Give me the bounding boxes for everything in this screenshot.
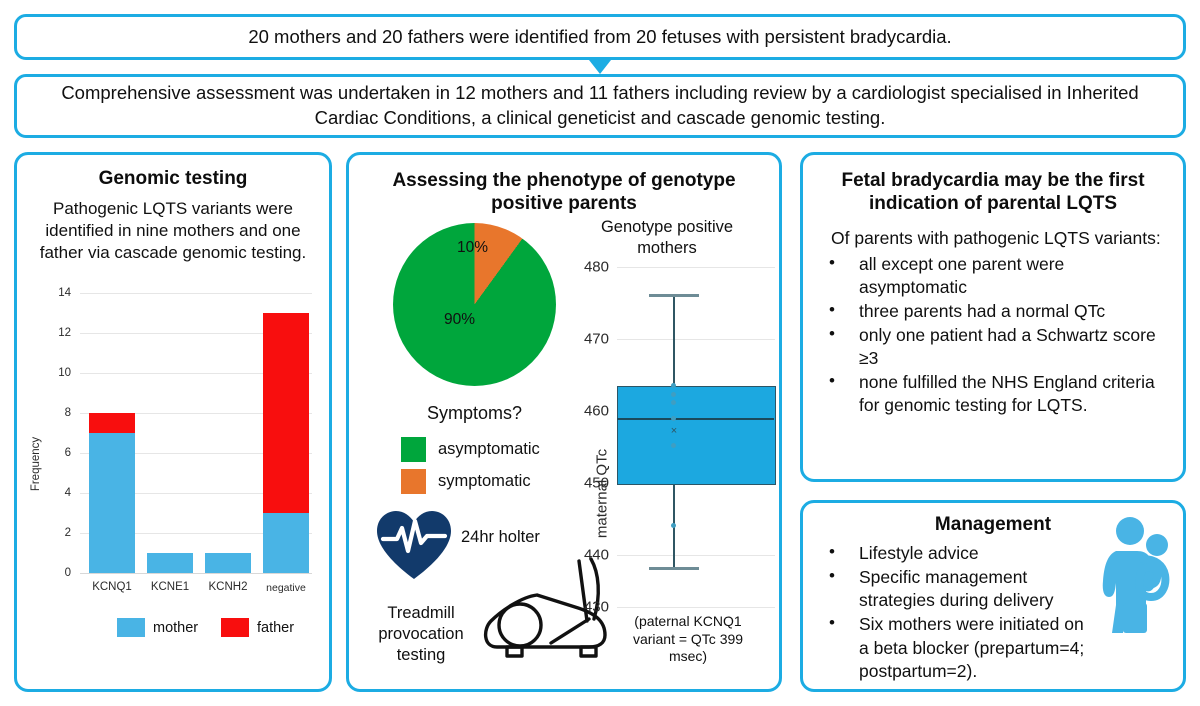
gridline xyxy=(617,339,775,340)
pie-label-asymptomatic: 90% xyxy=(444,311,475,329)
box-plot-y-tick: 480 xyxy=(565,259,609,276)
bar-chart-x-tick: KCNH2 xyxy=(195,581,261,593)
flow-arrow-icon xyxy=(589,60,611,74)
symptoms-question-label: Symptoms? xyxy=(393,403,556,424)
box-plot-y-tick: 460 xyxy=(565,403,609,420)
legend-swatch-symptomatic xyxy=(401,469,426,494)
pie-legend: asymptomatic symptomatic xyxy=(401,437,540,501)
genomic-variant-bar-chart: Frequency 14 12 10 8 6 4 2 0 xyxy=(17,283,329,691)
box-plot-data-point xyxy=(671,392,676,397)
gridline xyxy=(617,607,775,608)
gridline xyxy=(617,555,775,556)
box-plot-median-line xyxy=(617,418,774,420)
bar-chart-x-tick: KCNE1 xyxy=(137,581,203,593)
box-plot-data-point xyxy=(671,383,676,388)
genomic-panel-title: Genomic testing xyxy=(17,167,329,190)
box-plot-whisker-cap-upper xyxy=(649,294,699,297)
legend-swatch-father xyxy=(221,618,249,637)
box-plot-data-point xyxy=(671,416,676,421)
bar-negative-mother xyxy=(263,513,309,573)
panel-phenotype: Assessing the phenotype of genotype posi… xyxy=(346,152,782,692)
list-item: only one patient had a Schwartz score ≥3 xyxy=(819,324,1165,370)
bar-chart-y-tick: 10 xyxy=(37,367,71,379)
bar-chart-legend-father: father xyxy=(221,618,294,637)
banner-cohort-text: 20 mothers and 20 fathers were identifie… xyxy=(248,25,951,50)
bar-chart-x-tick: negative xyxy=(253,582,319,594)
bar-chart-y-tick: 4 xyxy=(37,487,71,499)
box-plot-note: (paternal KCNQ1 variant = QTc 399 msec) xyxy=(613,613,763,666)
bradycardia-panel-intro: Of parents with pathogenic LQTS variants… xyxy=(831,227,1163,250)
list-item: none fulfilled the NHS England criteria … xyxy=(819,371,1165,417)
list-item: Specific management strategies during de… xyxy=(819,566,1087,612)
holter-label: 24hr holter xyxy=(461,527,540,548)
bar-chart-y-tick: 2 xyxy=(37,527,71,539)
box-plot-mean-marker: × xyxy=(671,425,677,437)
heart-ecg-icon xyxy=(375,509,453,581)
list-item: Lifestyle advice xyxy=(819,542,1087,565)
genomic-panel-subtitle: Pathogenic LQTS variants were identified… xyxy=(33,198,313,264)
banner-assessment-text: Comprehensive assessment was undertaken … xyxy=(45,81,1155,130)
bar-chart-y-tick: 6 xyxy=(37,447,71,459)
infographic-page: 20 mothers and 20 fathers were identifie… xyxy=(0,0,1200,706)
treadmill-label: Treadmill provocation testing xyxy=(367,603,475,666)
legend-label-father: father xyxy=(257,620,294,636)
bar-chart-legend-mother: mother xyxy=(117,618,198,637)
panel-genomic-testing: Genomic testing Pathogenic LQTS variants… xyxy=(14,152,332,692)
bar-kcnq1-mother xyxy=(89,433,135,573)
bar-chart-y-tick: 0 xyxy=(37,567,71,579)
list-item: all except one parent were asymptomatic xyxy=(819,253,1165,299)
bar-kcnh2-mother xyxy=(205,553,251,573)
bradycardia-bullet-list: all except one parent were asymptomatic … xyxy=(819,253,1165,418)
pie-legend-symptomatic: symptomatic xyxy=(401,469,540,494)
mother-and-baby-icon xyxy=(1099,515,1179,637)
pie-label-symptomatic: 10% xyxy=(457,239,488,257)
banner-assessment: Comprehensive assessment was undertaken … xyxy=(14,74,1186,138)
gridline xyxy=(617,267,775,268)
pie-legend-asymptomatic: asymptomatic xyxy=(401,437,540,462)
panel-fetal-bradycardia: Fetal bradycardia may be the first indic… xyxy=(800,152,1186,482)
box-plot-y-tick: 450 xyxy=(565,475,609,492)
legend-label-asymptomatic: asymptomatic xyxy=(438,440,540,459)
legend-label-symptomatic: symptomatic xyxy=(438,472,531,491)
legend-swatch-asymptomatic xyxy=(401,437,426,462)
phenotype-panel-title: Assessing the phenotype of genotype posi… xyxy=(383,169,745,215)
box-plot-y-tick: 470 xyxy=(565,331,609,348)
legend-swatch-mother xyxy=(117,618,145,637)
bradycardia-panel-title: Fetal bradycardia may be the first indic… xyxy=(829,169,1157,215)
list-item: three parents had a normal QTc xyxy=(819,300,1165,323)
box-plot-y-tick: 440 xyxy=(565,547,609,564)
panel-management: Management Lifestyle advice Specific man… xyxy=(800,500,1186,692)
bar-chart-y-tick: 8 xyxy=(37,407,71,419)
box-plot-data-point xyxy=(671,443,676,448)
box-plot-title: Genotype positive mothers xyxy=(571,217,763,258)
bar-chart-x-tick: KCNQ1 xyxy=(79,581,145,593)
bar-kcne1-mother xyxy=(147,553,193,573)
legend-label-mother: mother xyxy=(153,620,198,636)
box-plot-whisker-cap-lower xyxy=(649,567,699,570)
box-plot-y-tick: 430 xyxy=(565,599,609,616)
gridline xyxy=(80,293,312,294)
box-plot-data-point xyxy=(671,523,676,528)
gridline xyxy=(80,573,312,574)
management-bullet-list: Lifestyle advice Specific management str… xyxy=(819,542,1087,683)
list-item: Six mothers were initiated on a beta blo… xyxy=(819,613,1087,682)
box-plot-box xyxy=(617,386,776,485)
box-plot-data-point xyxy=(671,400,676,405)
bar-negative-father xyxy=(263,313,309,513)
bar-chart-y-tick: 12 xyxy=(37,327,71,339)
bar-kcnq1-father xyxy=(89,413,135,433)
bar-chart-y-tick: 14 xyxy=(37,287,71,299)
banner-cohort: 20 mothers and 20 fathers were identifie… xyxy=(14,14,1186,60)
